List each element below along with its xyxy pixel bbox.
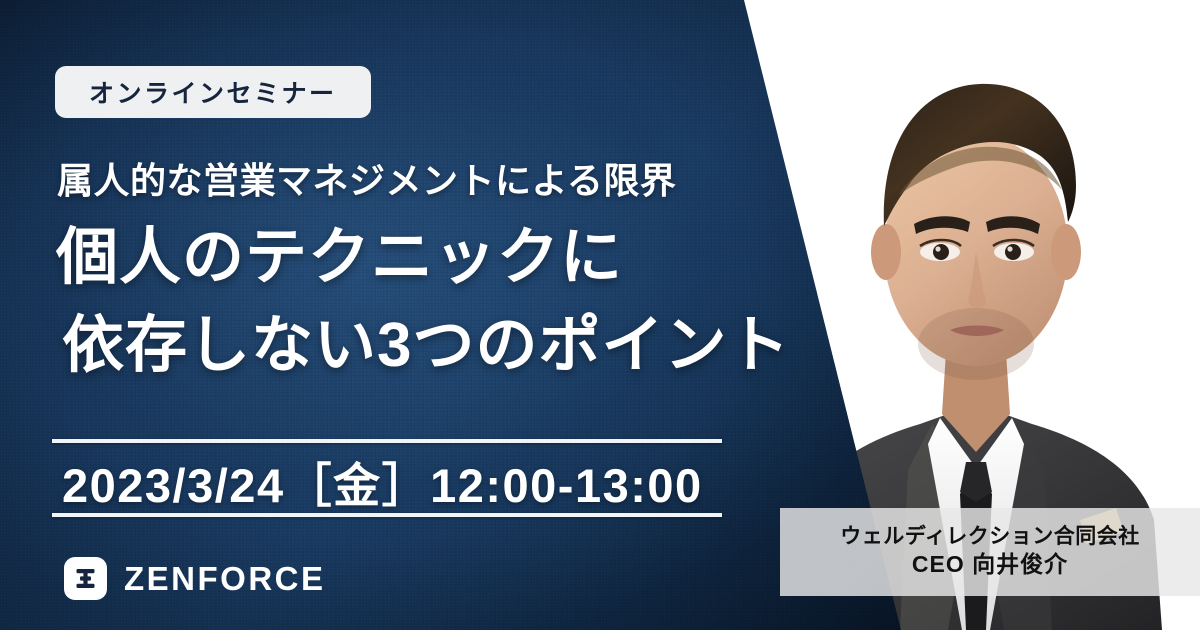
banner-content: オンラインセミナー 属人的な営業マネジメントによる限界 個人のテクニックに 依存… <box>0 0 760 630</box>
zenforce-logo: ZENFORCE <box>64 557 326 600</box>
event-datetime: 2023/3/24［金］12:00-13:00 <box>62 448 722 514</box>
speaker-caption-band: ウェルディレクション合同会社 CEO 向井俊介 <box>780 508 1200 596</box>
speaker-name: CEO 向井俊介 <box>912 550 1068 580</box>
zenforce-logo-text: ZENFORCE <box>124 562 326 595</box>
speaker-company: ウェルディレクション合同会社 <box>840 524 1140 550</box>
zenforce-mark-icon <box>64 557 107 600</box>
seminar-banner: ウェルディレクション合同会社 CEO 向井俊介 オンラインセミナー 属人的な営業… <box>0 0 1200 630</box>
seminar-type-badge: オンラインセミナー <box>55 66 371 118</box>
banner-title: 個人のテクニックに 依存しない3つのポイント <box>56 214 790 390</box>
divider-top <box>52 439 722 443</box>
divider-bottom <box>52 513 722 517</box>
banner-title-line-1: 個人のテクニックに <box>56 214 790 302</box>
banner-title-line-2: 依存しない3つのポイント <box>56 302 790 390</box>
speaker-photo-panel: ウェルディレクション合同会社 CEO 向井俊介 <box>780 0 1200 630</box>
banner-subtitle: 属人的な営業マネジメントによる限界 <box>57 152 676 204</box>
seminar-type-badge-label: オンラインセミナー <box>89 74 337 110</box>
